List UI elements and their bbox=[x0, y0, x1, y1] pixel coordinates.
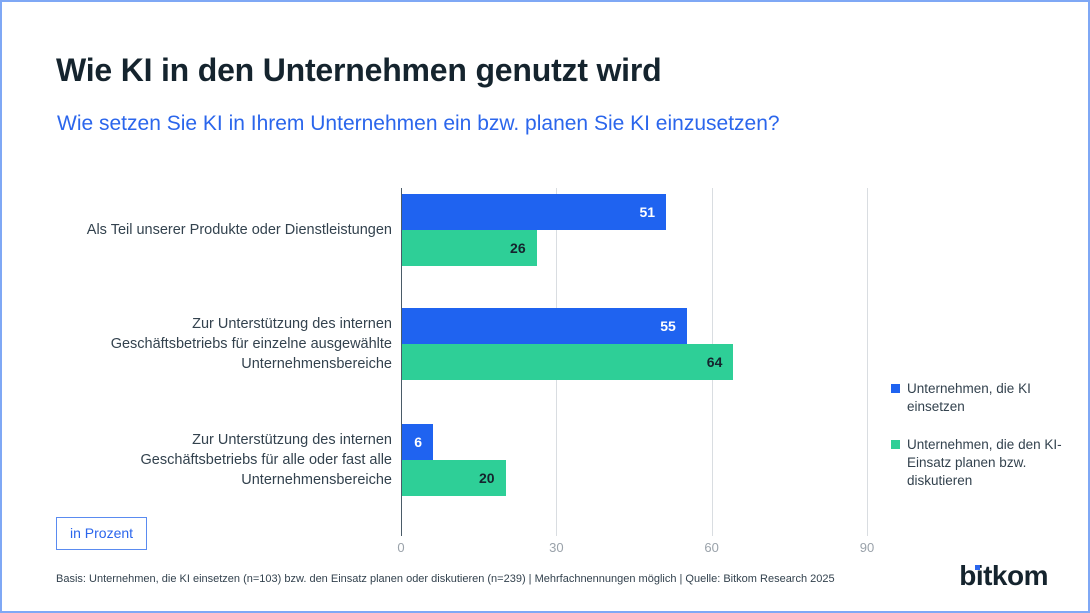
logo-text: bitkom bbox=[959, 560, 1048, 591]
category-label-column: Als Teil unserer Produkte oder Dienstlei… bbox=[42, 188, 392, 536]
legend-label: Unternehmen, die den KI-Einsatz planen b… bbox=[907, 436, 1066, 490]
legend-item-0[interactable]: Unternehmen, die KI einsetzen bbox=[891, 380, 1066, 416]
chart-legend: Unternehmen, die KI einsetzenUnternehmen… bbox=[891, 380, 1066, 510]
bar-einsetzen-1: 55 bbox=[402, 308, 687, 344]
x-tick-label: 0 bbox=[397, 540, 404, 555]
bar-value-label: 64 bbox=[707, 354, 734, 370]
bar-einsetzen-0: 51 bbox=[402, 194, 666, 230]
bar-planen-2: 20 bbox=[402, 460, 506, 496]
x-tick-label: 90 bbox=[860, 540, 874, 555]
legend-swatch-icon bbox=[891, 384, 900, 393]
source-note: Basis: Unternehmen, die KI einsetzen (n=… bbox=[56, 573, 835, 585]
chart-plot-area: 030609051265564620 bbox=[401, 188, 867, 536]
bitkom-logo: bitkom bbox=[959, 562, 1048, 590]
logo-dot-icon bbox=[975, 565, 980, 570]
page-subtitle: Wie setzen Sie KI in Ihrem Unternehmen e… bbox=[57, 112, 780, 136]
bar-value-label: 51 bbox=[639, 204, 666, 220]
bar-value-label: 20 bbox=[479, 470, 506, 486]
unit-badge: in Prozent bbox=[56, 517, 147, 550]
category-label-1: Zur Unterstützung des internenGeschäftsb… bbox=[42, 314, 392, 374]
infographic-page: Wie KI in den Unternehmen genutzt wird W… bbox=[0, 0, 1090, 613]
bar-planen-0: 26 bbox=[402, 230, 537, 266]
category-label-2: Zur Unterstützung des internenGeschäftsb… bbox=[42, 430, 392, 490]
x-tick-label: 30 bbox=[549, 540, 563, 555]
legend-swatch-icon bbox=[891, 440, 900, 449]
x-tick-label: 60 bbox=[704, 540, 718, 555]
bar-value-label: 26 bbox=[510, 240, 537, 256]
bar-einsetzen-2: 6 bbox=[402, 424, 433, 460]
legend-label: Unternehmen, die KI einsetzen bbox=[907, 380, 1066, 416]
gridline-90 bbox=[867, 188, 868, 536]
bar-value-label: 6 bbox=[414, 434, 433, 450]
legend-item-1[interactable]: Unternehmen, die den KI-Einsatz planen b… bbox=[891, 436, 1066, 490]
page-title: Wie KI in den Unternehmen genutzt wird bbox=[56, 52, 661, 89]
bar-planen-1: 64 bbox=[402, 344, 733, 380]
category-label-0: Als Teil unserer Produkte oder Dienstlei… bbox=[42, 220, 392, 240]
bar-value-label: 55 bbox=[660, 318, 687, 334]
